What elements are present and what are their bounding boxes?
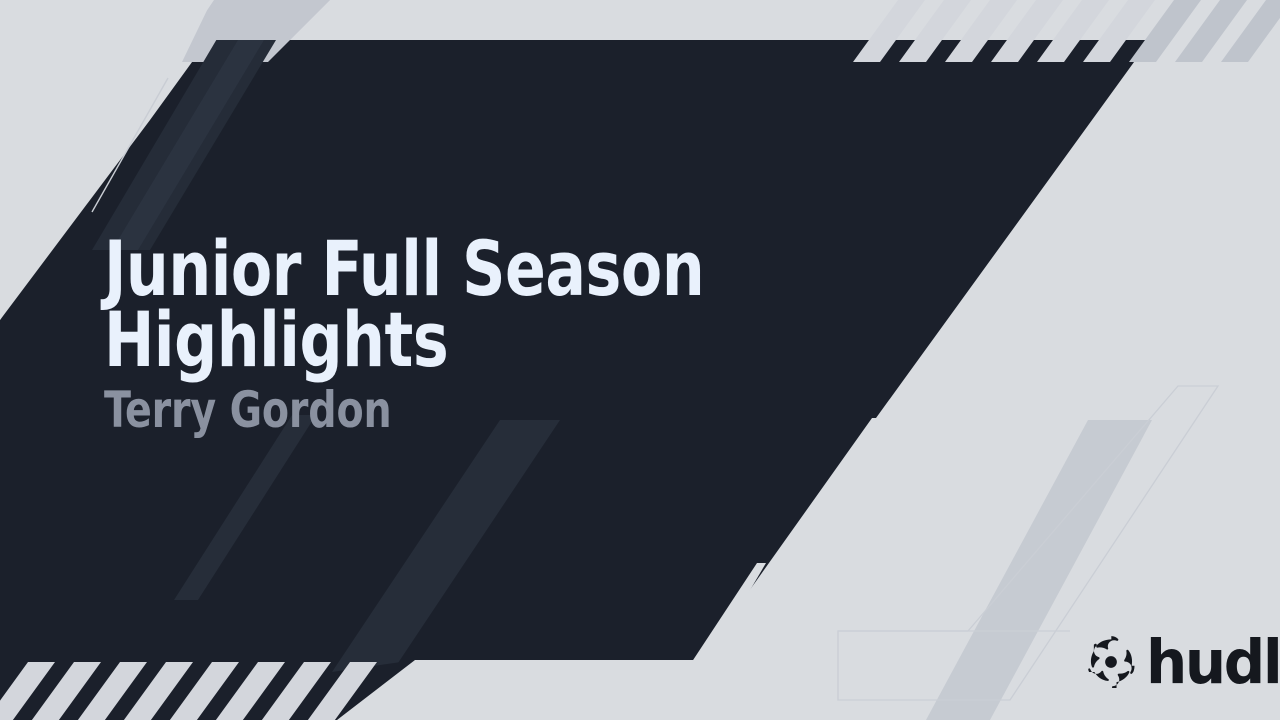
title-block: Junior Full Season Highlights Terry Gord… <box>104 234 804 435</box>
hudl-shield-icon <box>1085 636 1137 688</box>
athlete-name: Terry Gordon <box>104 385 720 435</box>
highlight-title-card: Junior Full Season Highlights Terry Gord… <box>0 0 1280 720</box>
page-title: Junior Full Season Highlights <box>104 234 720 375</box>
hudl-logo: hudl <box>1085 633 1280 691</box>
hudl-wordmark: hudl <box>1146 632 1280 692</box>
